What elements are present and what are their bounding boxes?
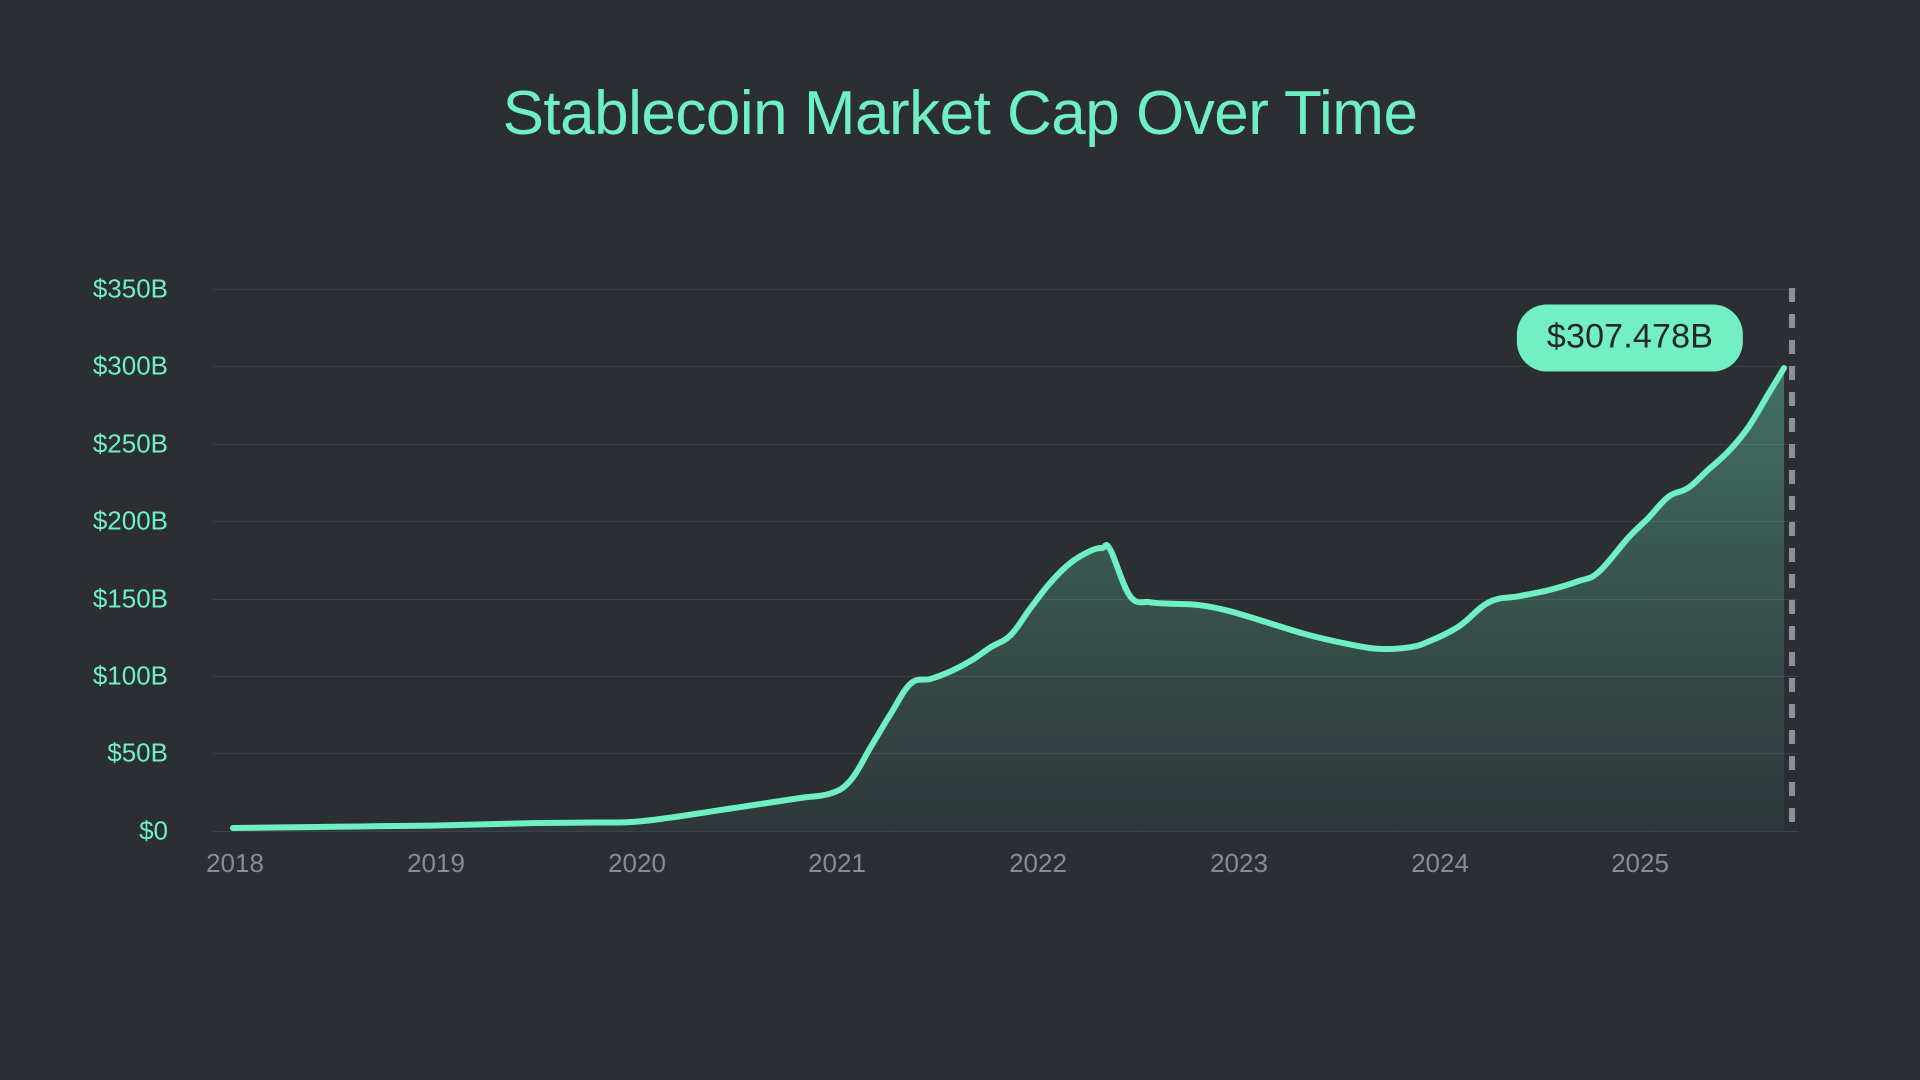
chart-container: Stablecoin Market Cap Over Time $350B $3… <box>0 0 1920 1080</box>
value-badge[interactable]: $307.478B <box>1517 305 1743 372</box>
series-layer <box>0 0 1920 1080</box>
series-area-fill <box>233 368 1784 831</box>
